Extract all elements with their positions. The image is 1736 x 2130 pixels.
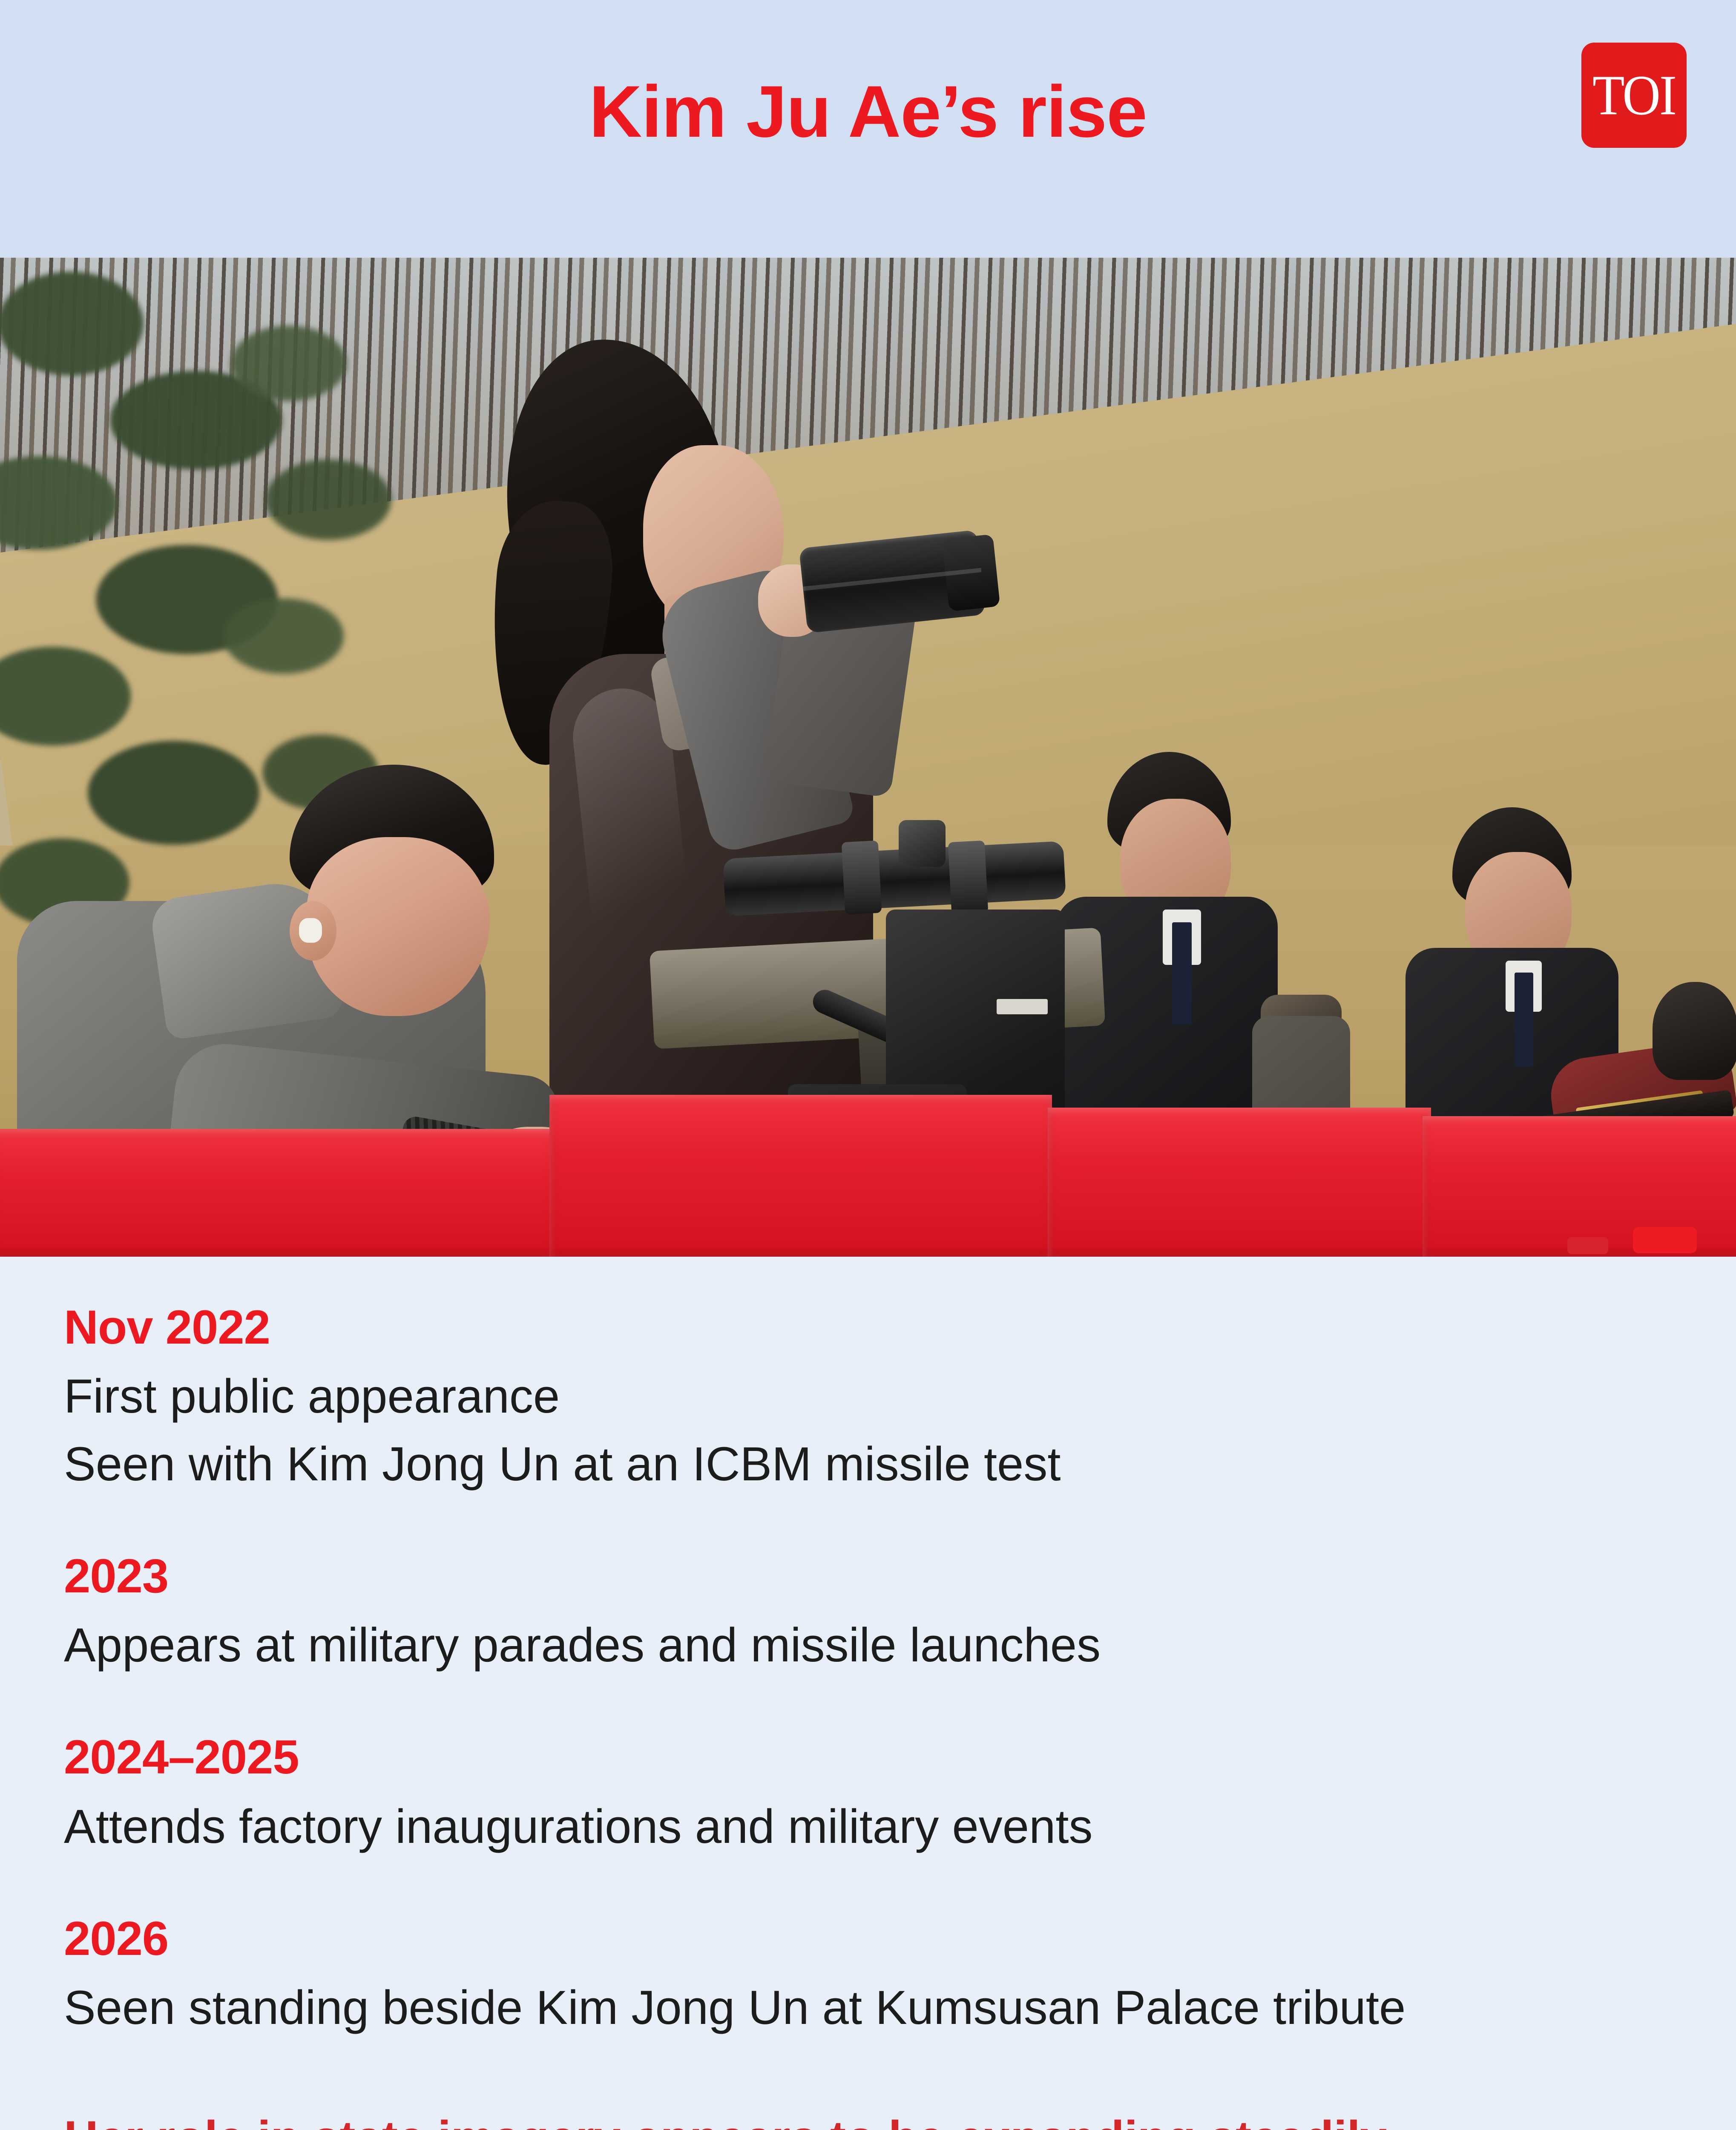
kju-earplug xyxy=(299,918,322,943)
scope-turret xyxy=(899,820,946,867)
red-badge-icon xyxy=(1633,1227,1697,1253)
timeline-section: Nov 2022 First public appearance Seen wi… xyxy=(0,1257,1736,2130)
timeline-year: 2023 xyxy=(64,1548,1614,1604)
timeline-entry: Nov 2022 First public appearance Seen wi… xyxy=(64,1299,1614,1498)
timeline-entry: 2024–2025 Attends factory inaugurations … xyxy=(64,1729,1614,1860)
page-title: Kim Ju Ae’s rise xyxy=(0,75,1736,148)
closing-statement: Her role in state imagery appears to be … xyxy=(64,2105,1614,2130)
red-badge-small-icon xyxy=(1567,1237,1608,1254)
timeline-entry: 2026 Seen standing beside Kim Jong Un at… xyxy=(64,1911,1614,2041)
table-drape-3 xyxy=(1048,1108,1431,1257)
equipment-case-label xyxy=(997,999,1048,1014)
timeline-line: Appears at military parades and missile … xyxy=(64,1611,1614,1679)
toi-logo-text: TOI xyxy=(1592,67,1676,124)
infographic-page: Kim Ju Ae’s rise TOI xyxy=(0,0,1736,2130)
timeline-year: 2026 xyxy=(64,1911,1614,1967)
timeline-detail: Seen standing beside Kim Jong Un at Kums… xyxy=(64,1974,1614,2041)
official-tie xyxy=(1172,922,1192,1025)
timeline-entries: Nov 2022 First public appearance Seen wi… xyxy=(64,1299,1614,2130)
timeline-year: Nov 2022 xyxy=(64,1299,1614,1356)
timeline-detail: Appears at military parades and missile … xyxy=(64,1611,1614,1679)
red-draped-tables xyxy=(0,1078,1736,1257)
timeline-detail: Attends factory inaugurations and milita… xyxy=(64,1793,1614,1860)
official-tie xyxy=(1515,973,1533,1066)
header-bar: Kim Ju Ae’s rise TOI xyxy=(0,0,1736,258)
timeline-line: Attends factory inaugurations and milita… xyxy=(64,1793,1614,1860)
timeline-entry: 2023 Appears at military parades and mis… xyxy=(64,1548,1614,1679)
timeline-line: Seen standing beside Kim Jong Un at Kums… xyxy=(64,1974,1614,2041)
toi-logo[interactable]: TOI xyxy=(1581,43,1687,148)
timeline-year: 2024–2025 xyxy=(64,1729,1614,1785)
scope-mount-ring-front xyxy=(842,840,882,915)
timeline-line: Seen with Kim Jong Un at an ICBM missile… xyxy=(64,1430,1614,1498)
timeline-line: First public appearance xyxy=(64,1362,1614,1430)
hero-photo xyxy=(0,258,1736,1257)
scope-mount-ring-rear xyxy=(948,840,989,915)
timeline-detail: First public appearance Seen with Kim Jo… xyxy=(64,1362,1614,1498)
table-drape-2 xyxy=(549,1095,1052,1257)
table-drape-1 xyxy=(0,1129,554,1257)
officer-secondary-head xyxy=(1653,982,1736,1080)
